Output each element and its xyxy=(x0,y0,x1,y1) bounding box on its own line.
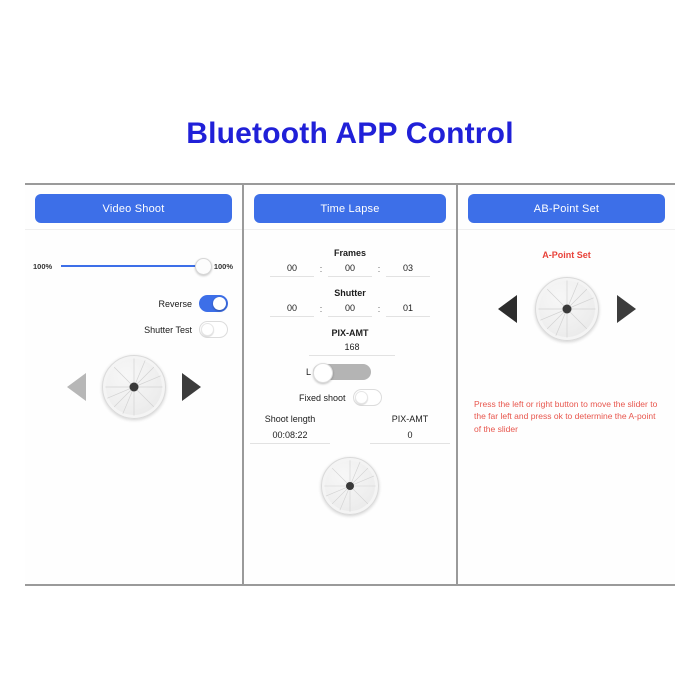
frames-label: Frames xyxy=(244,248,456,258)
jog-dial[interactable] xyxy=(102,355,166,419)
slider-track[interactable] xyxy=(61,265,205,267)
pix-amt-total-block: PIX-AMT 0 xyxy=(370,414,450,444)
a-point-hint-text: Press the left or right button to move t… xyxy=(474,398,663,435)
jog-control-abpoint xyxy=(458,277,675,341)
slider-min-label: 100% xyxy=(33,262,57,271)
pix-amt-label: PIX-AMT xyxy=(244,328,456,338)
shutter-test-toggle-knob xyxy=(201,323,214,336)
panel-header-ab-point-set: AB-Point Set xyxy=(458,185,675,230)
fixed-shoot-toggle-knob xyxy=(355,391,368,404)
video-shoot-button[interactable]: Video Shoot xyxy=(35,194,232,223)
jog-control-timelapse xyxy=(244,457,456,515)
dial-hub xyxy=(562,305,571,314)
shutter-seconds-field[interactable]: 01 xyxy=(386,303,430,317)
panel-header-video-shoot: Video Shoot xyxy=(25,185,242,230)
right-arrow-icon[interactable] xyxy=(182,373,201,401)
length-slider-label: L xyxy=(306,367,311,377)
shutter-minutes-field[interactable]: 00 xyxy=(328,303,372,317)
fixed-shoot-toggle[interactable] xyxy=(353,389,382,406)
length-slider-track[interactable] xyxy=(313,364,371,380)
time-lapse-button[interactable]: Time Lapse xyxy=(254,194,446,223)
dial-hub xyxy=(129,383,138,392)
shoot-length-value: 00:08:22 xyxy=(250,430,330,444)
slider-max-label: 100% xyxy=(209,262,233,271)
reverse-label: Reverse xyxy=(158,299,192,309)
ab-point-set-button[interactable]: AB-Point Set xyxy=(468,194,665,223)
shutter-time-row[interactable]: 00 : 00 : 01 xyxy=(260,303,440,317)
frames-hours-field[interactable]: 00 xyxy=(270,263,314,277)
frames-time-row[interactable]: 00 : 00 : 03 xyxy=(260,263,440,277)
shutter-label: Shutter xyxy=(244,288,456,298)
shoot-length-block: Shoot length 00:08:22 xyxy=(250,414,330,444)
pix-amt-total-value: 0 xyxy=(370,430,450,444)
jog-dial[interactable] xyxy=(321,457,379,515)
length-slider[interactable]: L xyxy=(306,364,371,380)
left-arrow-icon[interactable] xyxy=(498,295,517,323)
frames-separator-2: : xyxy=(372,264,386,277)
pix-amt-field[interactable]: 168 xyxy=(309,342,395,356)
a-point-set-subtitle: A-Point Set xyxy=(458,250,675,260)
length-slider-knob[interactable] xyxy=(313,363,333,383)
shutter-test-toggle-row[interactable]: Shutter Test xyxy=(144,321,228,338)
shutter-separator-2: : xyxy=(372,304,386,317)
shoot-length-label: Shoot length xyxy=(250,414,330,424)
panel-time-lapse: Time Lapse Frames 00 : 00 : 03 Shutter 0… xyxy=(242,185,458,584)
jog-control-video xyxy=(25,355,242,419)
shutter-hours-field[interactable]: 00 xyxy=(270,303,314,317)
slider-knob[interactable] xyxy=(195,258,212,275)
jog-dial[interactable] xyxy=(535,277,599,341)
panel-video-shoot: Video Shoot 100% 100% Reverse Shutter Te… xyxy=(25,185,242,584)
panel-header-time-lapse: Time Lapse xyxy=(244,185,456,230)
frames-minutes-field[interactable]: 00 xyxy=(328,263,372,277)
reverse-toggle-knob xyxy=(213,297,226,310)
reverse-toggle[interactable] xyxy=(199,295,228,312)
brightness-slider[interactable]: 100% 100% xyxy=(33,256,233,276)
panel-ab-point-set: AB-Point Set A-Point Set xyxy=(458,185,675,584)
shutter-test-label: Shutter Test xyxy=(144,325,192,335)
fixed-shoot-label: Fixed shoot xyxy=(299,393,346,403)
frames-seconds-field[interactable]: 03 xyxy=(386,263,430,277)
left-arrow-icon[interactable] xyxy=(67,373,86,401)
reverse-toggle-row[interactable]: Reverse xyxy=(158,295,228,312)
shutter-separator-1: : xyxy=(314,304,328,317)
page-title: Bluetooth APP Control xyxy=(0,117,700,151)
dial-hub xyxy=(346,482,354,490)
frames-separator-1: : xyxy=(314,264,328,277)
right-arrow-icon[interactable] xyxy=(617,295,636,323)
fixed-shoot-toggle-row[interactable]: Fixed shoot xyxy=(299,389,382,406)
shutter-test-toggle[interactable] xyxy=(199,321,228,338)
pix-amt-total-label: PIX-AMT xyxy=(370,414,450,424)
panels-container: Video Shoot 100% 100% Reverse Shutter Te… xyxy=(25,183,675,586)
